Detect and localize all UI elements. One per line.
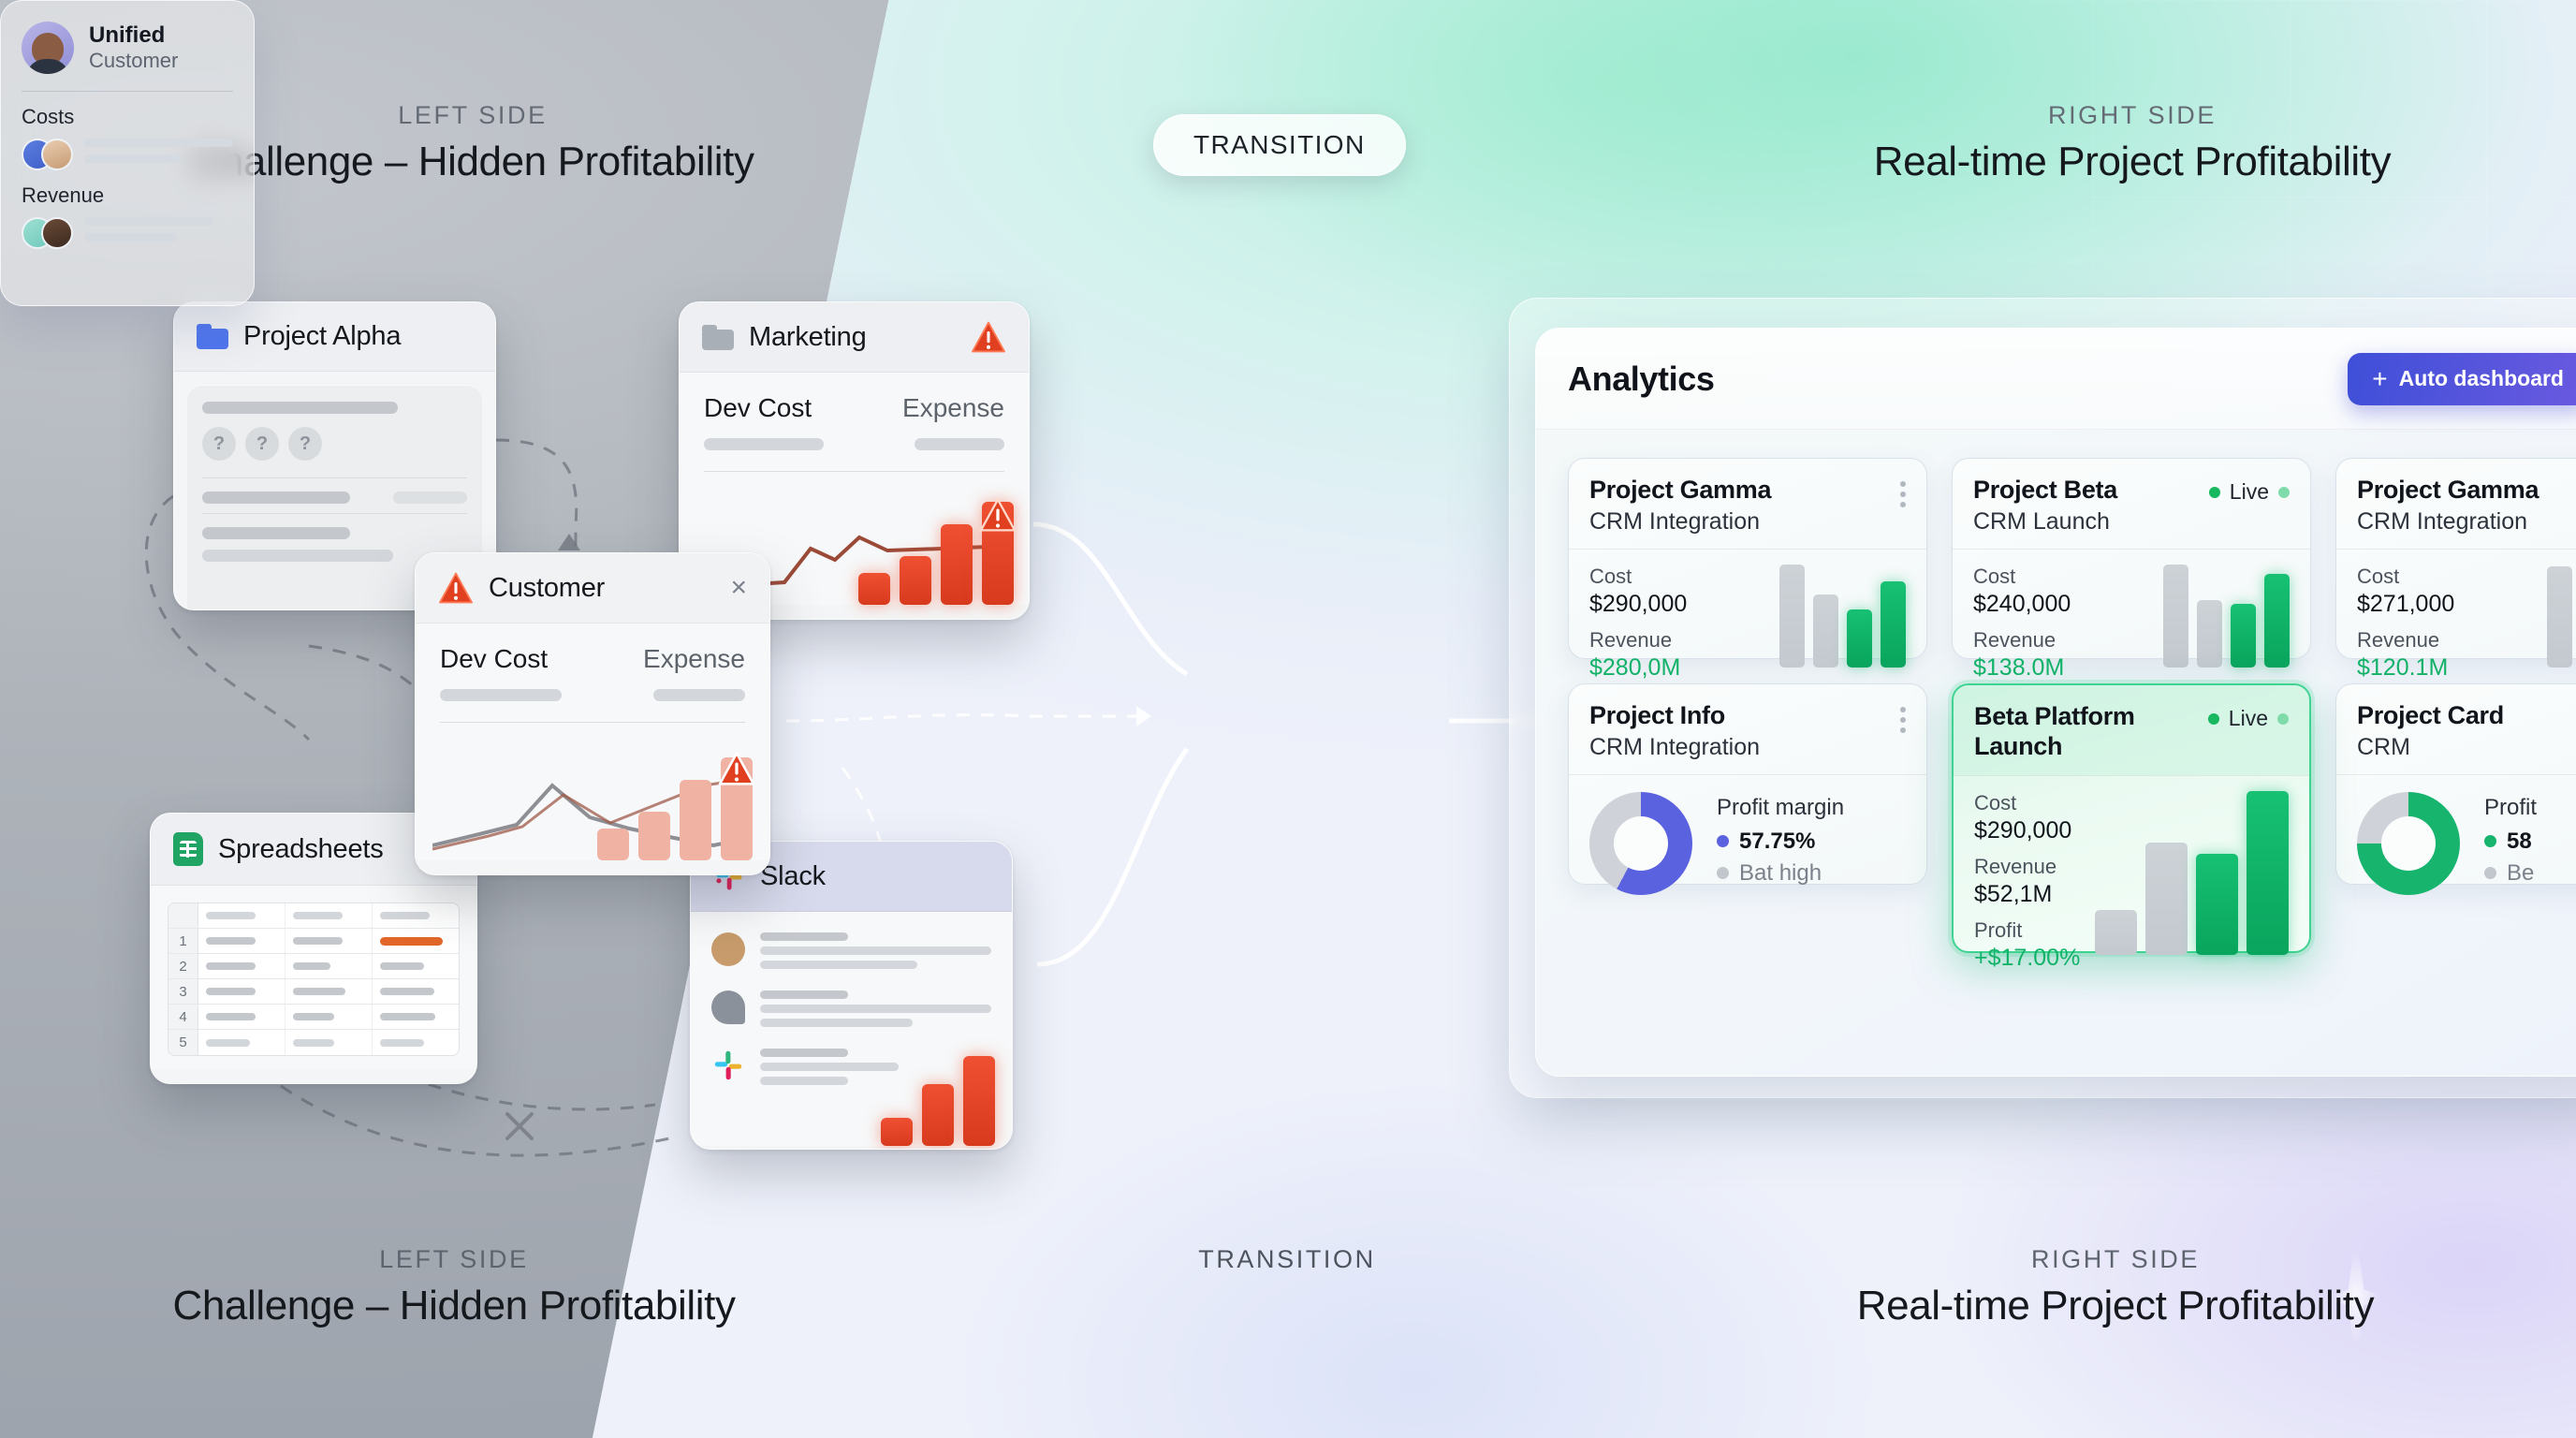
left-title-top: Challenge – Hidden Profitability — [164, 139, 782, 185]
cost-value: $271,000 — [2357, 591, 2454, 618]
bar — [2247, 791, 2289, 955]
card-title: Project Gamma — [2357, 476, 2539, 506]
bar-chart — [2547, 565, 2576, 668]
status-badge: Live — [2209, 476, 2290, 505]
revenue-value: $280,0M — [1589, 654, 1687, 682]
revenue-value: $138.0M — [1973, 654, 2071, 682]
donut-secondary: Be — [2507, 860, 2534, 887]
card-header: Project Gamma CRM Integration — [2336, 459, 2576, 549]
right-title-bottom: Real-time Project Profitability — [1713, 1283, 2518, 1329]
legend-primary: 57.75% — [1717, 829, 1844, 855]
folder-icon — [702, 325, 734, 350]
card-header: Beta Platform Launch Live — [1954, 685, 2309, 775]
card-body: Profit 58 Be — [2336, 775, 2576, 895]
legend-secondary: Bat high — [1717, 860, 1844, 887]
status-dot-icon — [2277, 713, 2289, 725]
cell[interactable] — [373, 1005, 459, 1029]
slack-title: Slack — [760, 861, 826, 892]
profit-value: +$17.00% — [1974, 945, 2080, 972]
revenue-label: Revenue — [1974, 855, 2080, 879]
marketing-header: Marketing — [680, 302, 1029, 373]
skeleton-line — [915, 438, 1004, 450]
cell[interactable] — [373, 954, 459, 978]
bar — [881, 1118, 913, 1146]
marketing-title: Marketing — [749, 322, 867, 353]
skeleton-line — [653, 689, 745, 701]
unified-costs-label: Costs — [22, 105, 233, 129]
cell[interactable] — [373, 979, 459, 1004]
left-eyebrow-top: LEFT SIDE — [164, 101, 782, 130]
table-row[interactable]: 3 — [168, 979, 459, 1005]
cost-value: $290,000 — [1589, 591, 1687, 618]
project-card-grid: Project Gamma CRM Integration Cost $290,… — [1536, 430, 2576, 953]
cost-value: $240,000 — [1973, 591, 2071, 618]
bar — [1779, 565, 1805, 668]
table-row[interactable]: 2 — [168, 954, 459, 979]
right-header-top: RIGHT SIDE Real-time Project Profitabili… — [1730, 101, 2535, 185]
card-title: Project Beta — [1973, 476, 2117, 506]
card-body: Profit margin 57.75% Bat high — [1569, 775, 1926, 895]
project-card-beta[interactable]: Project Beta CRM Launch Live Cost — [1952, 458, 2311, 659]
donut-title: Profit margin — [1717, 795, 1844, 821]
card-title: Project Gamma — [1589, 476, 1771, 506]
unified-revenue-section: Revenue — [1, 170, 254, 249]
unified-costs-section: Costs — [1, 92, 254, 170]
bar — [963, 1056, 995, 1146]
status-badge: Live — [2208, 702, 2289, 731]
revenue-label: Revenue — [2357, 628, 2454, 653]
card-slack[interactable]: Slack — [690, 841, 1013, 1150]
skeleton-line — [440, 689, 562, 701]
status-label: Live — [2229, 706, 2268, 731]
card-body: Cost $240,000 Revenue $138.0M — [1953, 550, 2310, 682]
transition-label-bottom: TRANSITION — [1175, 1245, 1399, 1274]
card-header: Project Gamma CRM Integration — [1569, 459, 1926, 549]
warning-triangle-icon — [718, 752, 755, 785]
left-title-bottom: Challenge – Hidden Profitability — [145, 1283, 763, 1329]
bar — [2547, 566, 2572, 668]
marketing-metric-label: Dev Cost — [704, 393, 812, 423]
bar — [680, 780, 711, 860]
project-card-crm[interactable]: Project Card CRM Profit 58 — [2335, 683, 2576, 885]
question-row: ? ? ? — [202, 427, 467, 461]
project-alpha-title: Project Alpha — [243, 321, 401, 352]
cell[interactable] — [285, 1030, 373, 1055]
bar — [1813, 594, 1838, 668]
cost-value: $290,000 — [1974, 817, 2080, 844]
auto-dashboard-button[interactable]: + Auto dashboard — [2348, 353, 2576, 405]
left-eyebrow-bottom: LEFT SIDE — [145, 1245, 763, 1274]
column-header — [373, 903, 459, 928]
message-item — [711, 990, 991, 1033]
right-eyebrow-bottom: RIGHT SIDE — [1713, 1245, 2518, 1274]
donut-chart — [2357, 792, 2460, 895]
question-icon: ? — [288, 427, 322, 461]
bar — [2095, 910, 2137, 955]
unified-revenue-label: Revenue — [22, 183, 233, 208]
customer-metric-type: Expense — [643, 644, 745, 674]
bar — [2196, 854, 2238, 955]
unified-costs-row — [22, 139, 233, 170]
warning-triangle-icon — [438, 572, 474, 604]
revenue-value: $120.1M — [2357, 654, 2454, 682]
right-title-top: Real-time Project Profitability — [1730, 139, 2535, 185]
bar-chart — [1779, 565, 1906, 668]
cell[interactable] — [373, 1030, 459, 1055]
avatar — [711, 932, 745, 966]
legend-dot-icon — [1717, 835, 1729, 847]
status-dot-icon — [2209, 487, 2220, 498]
legend-dot-icon — [1717, 867, 1729, 879]
unified-role: Customer — [89, 49, 178, 73]
left-header-bottom: LEFT SIDE Challenge – Hidden Profitabili… — [145, 1245, 763, 1329]
warning-triangle-icon — [971, 321, 1006, 353]
question-icon: ? — [202, 427, 236, 461]
row-number: 3 — [168, 979, 198, 1004]
revenue-label: Revenue — [1973, 628, 2071, 653]
marketing-metric-row: Dev Cost Expense — [704, 393, 1004, 423]
spreadsheet-icon — [173, 832, 203, 866]
card-header: Project Beta CRM Launch Live — [1953, 459, 2310, 549]
card-subtitle: CRM Integration — [1589, 507, 1771, 536]
cell[interactable] — [198, 954, 285, 978]
cell[interactable] — [198, 1005, 285, 1029]
question-icon: ? — [245, 427, 279, 461]
bar — [941, 524, 973, 605]
customer-metric-row: Dev Cost Expense — [440, 644, 745, 674]
donut-secondary: Bat high — [1739, 860, 1822, 887]
donut-value: 58 — [2507, 829, 2532, 855]
legend-dot-icon — [2484, 867, 2496, 879]
avatar-stack — [22, 217, 73, 249]
cell[interactable] — [285, 929, 373, 953]
cost-label: Cost — [1974, 791, 2080, 815]
bar — [1881, 581, 1906, 668]
bar — [721, 757, 753, 860]
spreadsheets-body: 1 2 3 4 — [151, 886, 476, 1069]
card-subtitle: CRM Integration — [2357, 507, 2539, 536]
bar-chart — [2163, 565, 2290, 668]
card-subtitle: CRM Integration — [1589, 733, 1760, 761]
dashboard-window[interactable]: Analytics + Auto dashboard Project Gamma… — [1535, 328, 2576, 1077]
right-eyebrow-top: RIGHT SIDE — [1730, 101, 2535, 130]
bar — [922, 1084, 954, 1146]
skeleton-line — [704, 438, 824, 450]
donut-title: Profit — [2484, 795, 2537, 821]
table-row[interactable]: 4 — [168, 1005, 459, 1030]
legend-dot-icon — [2484, 835, 2496, 847]
customer-body: Dev Cost Expense — [416, 624, 769, 860]
auto-dashboard-label: Auto dashboard — [2399, 366, 2564, 391]
bar — [638, 812, 670, 860]
unified-name: Unified — [89, 22, 178, 49]
table-header-row — [168, 903, 459, 929]
bar — [858, 573, 890, 605]
cost-label: Cost — [2357, 565, 2454, 589]
left-header-top: LEFT SIDE Challenge – Hidden Profitabili… — [164, 101, 782, 185]
cell[interactable] — [198, 1030, 285, 1055]
dashboard-header: Analytics + Auto dashboard — [1536, 329, 2576, 430]
revenue-value: $52,1M — [1974, 881, 2080, 908]
status-dot-icon — [2208, 713, 2219, 725]
kebab-menu-icon[interactable] — [1900, 701, 1906, 733]
avatar — [22, 22, 74, 74]
column-header — [285, 903, 373, 928]
card-subtitle: CRM Launch — [1973, 507, 2117, 536]
close-icon[interactable]: × — [730, 574, 747, 602]
right-header-bottom: RIGHT SIDE Real-time Project Profitabili… — [1713, 1245, 2518, 1329]
divider — [704, 471, 1004, 472]
bar — [982, 502, 1014, 605]
plus-icon: + — [2372, 366, 2387, 392]
slack-body — [691, 912, 1012, 1146]
row-number: 2 — [168, 954, 198, 978]
card-body: Cost $271,000 Revenue $120.1M — [2336, 550, 2576, 682]
slack-bar-chart — [881, 1056, 995, 1146]
profit-label: Profit — [1974, 918, 2080, 943]
bar — [900, 556, 931, 605]
bar — [2264, 574, 2290, 668]
donut-value: 57.75% — [1739, 829, 1815, 855]
project-card-gamma-1[interactable]: Project Gamma CRM Integration Cost $290,… — [1568, 458, 1927, 659]
row-number: 1 — [168, 929, 198, 953]
cell-highlighted[interactable] — [373, 929, 459, 953]
table-row[interactable]: 5 — [168, 1030, 459, 1055]
bar — [2197, 600, 2222, 668]
legend-secondary: Be — [2484, 860, 2537, 887]
message-item — [711, 932, 991, 975]
card-unified-customer[interactable]: Unified Customer Costs Revenue — [0, 0, 255, 306]
cost-label: Cost — [1589, 565, 1687, 589]
cost-label: Cost — [1973, 565, 2071, 589]
status-label: Live — [2230, 479, 2269, 505]
cell[interactable] — [285, 954, 373, 978]
legend-primary: 58 — [2484, 829, 2537, 855]
card-subtitle: CRM — [2357, 733, 2504, 761]
skeleton-line — [202, 550, 393, 562]
cell[interactable] — [285, 979, 373, 1004]
transition-pill[interactable]: TRANSITION — [1153, 114, 1406, 176]
warning-triangle-icon — [979, 498, 1017, 532]
customer-header: Customer × — [416, 553, 769, 624]
customer-metric-label: Dev Cost — [440, 644, 548, 674]
slack-icon — [711, 1049, 745, 1082]
row-number: 4 — [168, 1005, 198, 1029]
avatar — [711, 990, 745, 1024]
row-corner — [168, 903, 198, 928]
project-card-info[interactable]: Project Info CRM Integration Profit marg… — [1568, 683, 1927, 885]
card-title: Beta Platform Launch — [1974, 702, 2189, 762]
revenue-label: Revenue — [1589, 628, 1687, 653]
divider — [202, 477, 467, 478]
card-body: Cost $290,000 Revenue $280,0M — [1569, 550, 1926, 682]
cell[interactable] — [285, 1005, 373, 1029]
project-alpha-header: Project Alpha — [174, 302, 495, 372]
marketing-bar-chart — [858, 494, 1014, 605]
column-header — [198, 903, 285, 928]
unified-header: Unified Customer — [1, 1, 254, 74]
customer-bar-chart — [597, 750, 753, 860]
divider — [440, 722, 745, 723]
skeleton-line — [393, 492, 467, 504]
card-header: Project Info CRM Integration — [1569, 684, 1926, 774]
spreadsheet-table: 1 2 3 4 — [168, 902, 460, 1056]
card-customer[interactable]: Customer × Dev Cost Expense — [415, 552, 770, 875]
row-number: 5 — [168, 1030, 198, 1055]
cell[interactable] — [198, 979, 285, 1004]
divider — [202, 513, 467, 514]
donut-chart — [1589, 792, 1692, 895]
skeleton-line — [202, 402, 398, 414]
dashboard-title: Analytics — [1568, 359, 1714, 399]
bar-chart — [2095, 791, 2289, 955]
bar — [1847, 609, 1872, 668]
status-dot-icon — [2278, 487, 2290, 498]
cell[interactable] — [198, 929, 285, 953]
spreadsheets-title: Spreadsheets — [218, 834, 384, 865]
card-title: Project Info — [1589, 701, 1760, 731]
canvas: LEFT SIDE Challenge – Hidden Profitabili… — [0, 0, 2576, 1438]
bar — [2231, 604, 2256, 668]
project-card-gamma-2[interactable]: Project Gamma CRM Integration Cost $271,… — [2335, 458, 2576, 659]
project-card-beta-platform-launch[interactable]: Beta Platform Launch Live Cost $290,000 — [1952, 683, 2311, 953]
card-body: Cost $290,000 Revenue $52,1M Profit +$17… — [1954, 776, 2309, 972]
card-header: Project Card CRM — [2336, 684, 2576, 774]
bar — [597, 829, 629, 860]
kebab-menu-icon[interactable] — [1900, 476, 1906, 507]
folder-icon — [197, 324, 228, 349]
bar — [2145, 843, 2188, 955]
table-row[interactable]: 1 — [168, 929, 459, 954]
unified-revenue-row — [22, 217, 233, 249]
avatar-stack — [22, 139, 73, 170]
marketing-metric-type: Expense — [902, 393, 1004, 423]
skeleton-line — [202, 492, 350, 504]
skeleton-line — [202, 527, 350, 539]
card-title: Project Card — [2357, 701, 2504, 731]
bar — [2163, 565, 2188, 668]
customer-title: Customer — [489, 573, 605, 604]
